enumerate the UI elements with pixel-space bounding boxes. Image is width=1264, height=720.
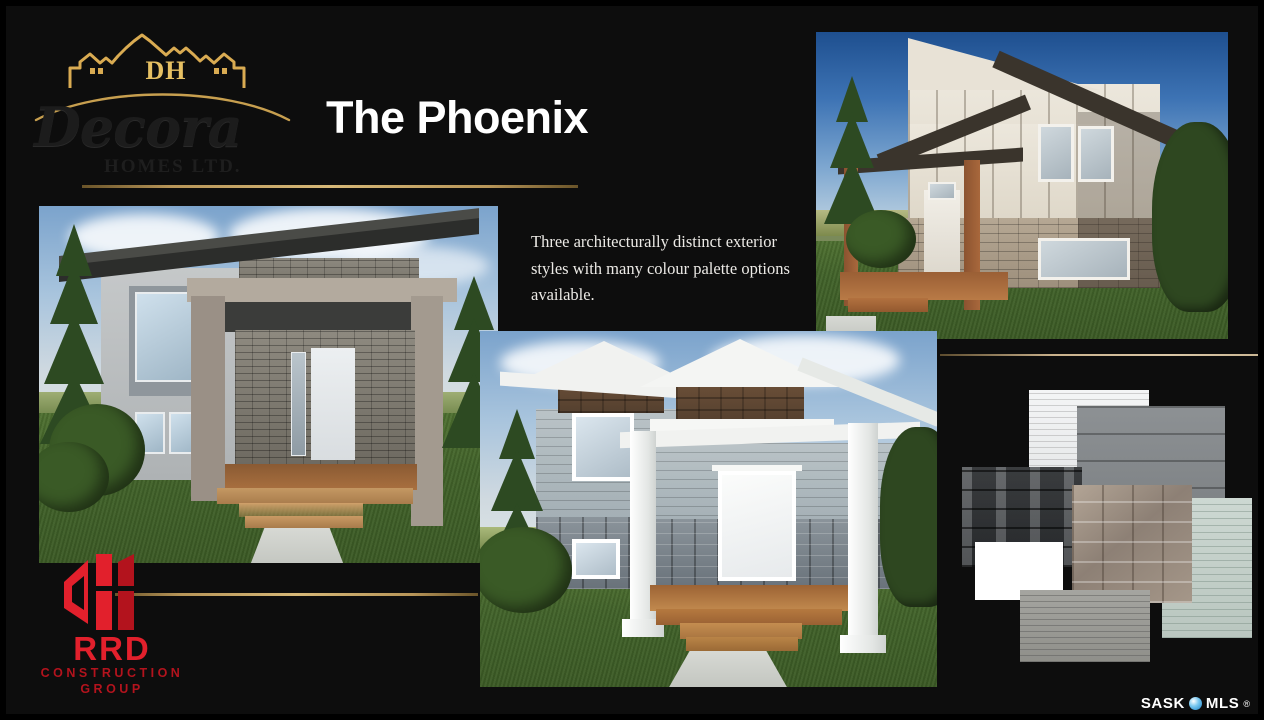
material-palette-board xyxy=(957,370,1252,670)
sask-mls-watermark: SASK MLS ® xyxy=(1141,695,1250,712)
window-basement xyxy=(1038,238,1130,280)
porch-column-right xyxy=(848,423,878,645)
window-basement xyxy=(572,539,620,579)
rrd-construction-group-logo: RRD CONSTRUCTION GROUP xyxy=(32,552,192,700)
decora-homes-logo: DH Decora HOMES LTD. xyxy=(30,28,295,188)
front-door xyxy=(718,471,796,581)
porch-deck xyxy=(650,585,848,611)
render-modern-flat-roof xyxy=(39,206,498,563)
mls-dot-icon xyxy=(1189,697,1202,710)
deciduous-tree xyxy=(880,427,937,607)
conifer-tree xyxy=(39,224,109,434)
deciduous-tree xyxy=(1152,122,1228,312)
door-header-trim xyxy=(712,465,802,471)
window xyxy=(135,292,197,382)
door-transom xyxy=(928,182,956,200)
deck-step-1 xyxy=(217,488,413,504)
step-3 xyxy=(686,637,798,651)
render-gable-front xyxy=(816,32,1228,339)
presentation-slide: DH Decora HOMES LTD. The Phoenix Three a… xyxy=(0,0,1264,720)
front-door xyxy=(311,348,355,460)
deck-step-2 xyxy=(239,503,363,517)
swatch-gray-siding[interactable] xyxy=(1020,590,1150,662)
divider-right xyxy=(940,354,1264,356)
entry-post-left xyxy=(191,296,225,501)
shrub xyxy=(846,210,916,268)
porch-deck xyxy=(840,272,1008,300)
porch-step xyxy=(848,298,928,312)
entry-soffit-shadow xyxy=(211,302,441,332)
divider-top xyxy=(82,185,578,188)
decora-subtitle: HOMES LTD. xyxy=(104,156,304,178)
rrd-subtitle-line2: GROUP xyxy=(32,682,192,696)
rrd-building-mark-icon xyxy=(62,552,158,632)
window-upper-right xyxy=(1078,126,1114,182)
rrd-subtitle-line1: CONSTRUCTION xyxy=(32,666,192,680)
mls-prefix-text: SASK xyxy=(1141,695,1185,712)
sidelight-window xyxy=(291,352,306,456)
render-craftsman xyxy=(480,331,937,687)
mls-suffix-text: MLS xyxy=(1206,695,1239,712)
window-upper-left xyxy=(1038,124,1074,182)
description-text: Three architecturally distinct exterior … xyxy=(531,229,803,309)
column-base-right xyxy=(840,635,886,653)
front-door xyxy=(924,190,960,278)
deck-step-3 xyxy=(245,516,363,528)
mls-registered-mark: ® xyxy=(1243,699,1250,709)
deck xyxy=(225,464,417,490)
swatch-stone[interactable] xyxy=(1072,485,1192,603)
walkway xyxy=(249,528,345,563)
page-title: The Phoenix xyxy=(326,92,588,144)
decora-wordmark: Decora xyxy=(34,100,294,154)
rrd-wordmark: RRD xyxy=(32,632,192,665)
